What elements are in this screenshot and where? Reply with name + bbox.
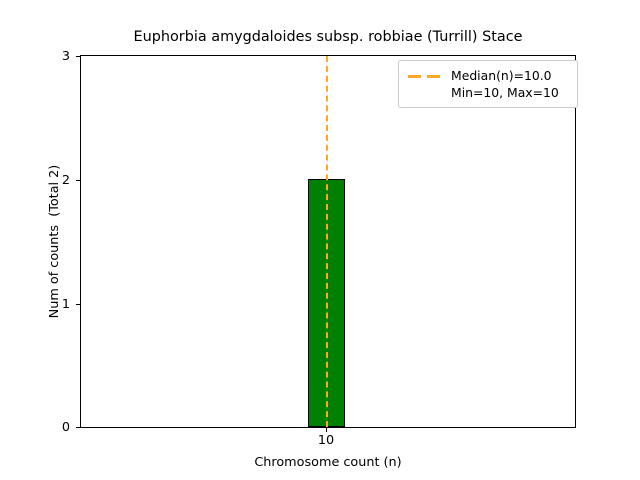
ytick-mark-0 [76, 427, 80, 428]
dashed-line-icon [407, 70, 443, 84]
legend: Median(n)=10.0 Min=10, Max=10 [398, 60, 578, 108]
ytick-mark-3 [76, 56, 80, 57]
legend-label-median: Median(n)=10.0 [451, 67, 559, 84]
x-axis-label: Chromosome count (n) [80, 455, 576, 470]
ytick-mark-1 [76, 304, 80, 305]
xtick-mark-10 [326, 428, 327, 432]
median-line [326, 56, 328, 427]
legend-label-minmax: Min=10, Max=10 [451, 84, 559, 101]
ytick-mark-2 [76, 180, 80, 181]
figure-canvas: Euphorbia amygdaloides subsp. robbiae (T… [0, 0, 640, 480]
legend-item-median: Median(n)=10.0 Min=10, Max=10 [407, 67, 569, 101]
plot-area [80, 55, 576, 428]
y-axis-label: Num of counts (Total 2) [46, 55, 63, 428]
xtick-label-10: 10 [306, 434, 346, 448]
legend-labels-column: Median(n)=10.0 Min=10, Max=10 [451, 67, 559, 101]
page-title: Euphorbia amygdaloides subsp. robbiae (T… [80, 29, 576, 46]
